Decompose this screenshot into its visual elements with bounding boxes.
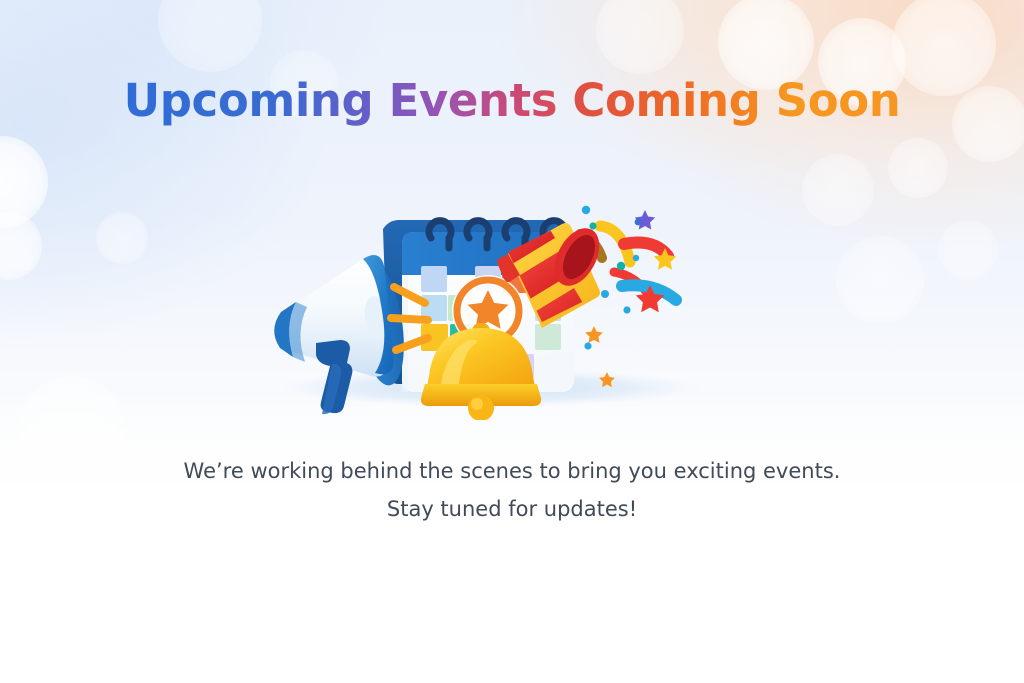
confetti-dot-cyan (582, 206, 590, 214)
confetti-dot-cyan-3 (601, 290, 609, 298)
calendar-cell (421, 266, 447, 292)
background-bottom-fade (0, 383, 1024, 683)
subtitle-line-2: Stay tuned for updates! (0, 490, 1024, 528)
confetti-stars (585, 210, 676, 387)
confetti-dot-blue (635, 219, 642, 226)
confetti-star-orange (585, 326, 603, 343)
confetti-dot-teal (589, 222, 596, 229)
confetti-dot-cyan-2 (633, 255, 639, 261)
confetti-dot-cyan-5 (584, 342, 591, 349)
sound-line-2 (391, 318, 428, 320)
calendar-cell (535, 324, 561, 350)
bell-clapper-highlight (471, 398, 483, 410)
page-title: Upcoming Events Coming Soon (124, 74, 901, 127)
subtitle-container: We’re working behind the scenes to bring… (0, 452, 1024, 528)
subtitle-line-1: We’re working behind the scenes to bring… (0, 452, 1024, 490)
confetti-dot-cyan-4 (623, 306, 630, 313)
page-title-container: Upcoming Events Coming Soon (0, 74, 1024, 127)
confetti-dot-teal-3 (617, 262, 625, 270)
events-coming-soon-illustration (250, 180, 720, 420)
